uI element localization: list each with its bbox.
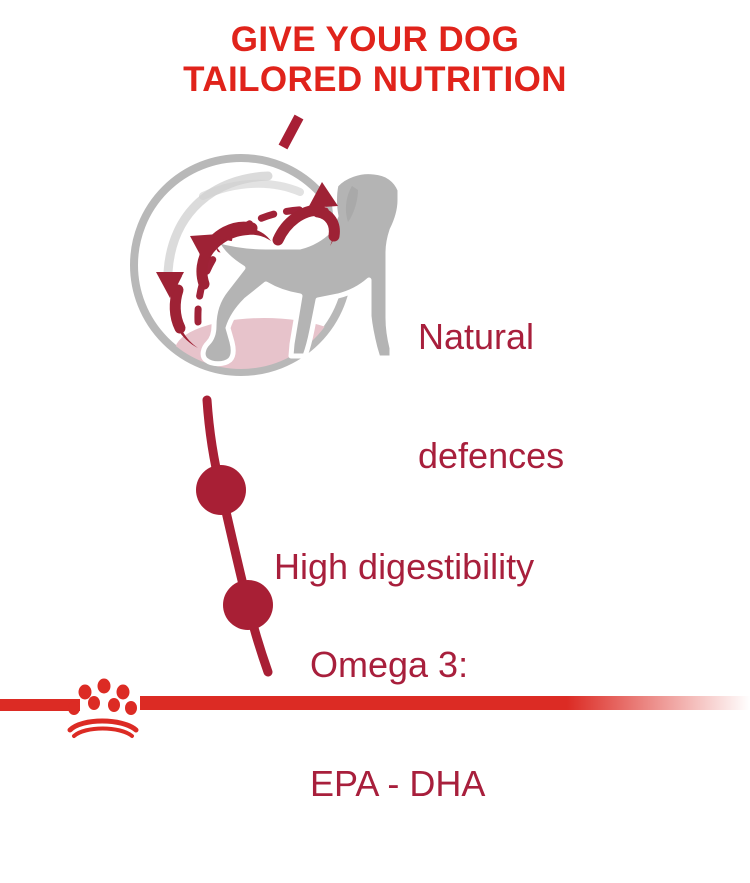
crown-arc-inner [74,729,132,737]
defence-arrow-3-head [308,182,338,208]
icon-ground-shadow [175,318,353,382]
defence-arrow-3 [278,182,338,246]
natural-defences-icon [134,158,400,382]
feature-omega-line-2: EPA - DHA [310,764,485,804]
dog-silhouette [203,172,400,364]
icon-dashed-shield-arc [198,210,362,322]
footer-left-bar [0,699,80,711]
page-title: GIVE YOUR DOG TAILORED NUTRITION [0,20,750,100]
icon-ring [134,158,348,372]
icon-inner-arc [168,176,268,272]
defence-arrow-2-head [190,234,219,262]
royal-canin-crown-logo [68,679,137,737]
connector-dot-digestibility [196,465,246,515]
defence-arrow-2 [190,227,271,284]
feature-natural-line-1: Natural [418,317,564,357]
dog-ear [346,186,358,222]
defence-arrow-1-head [162,276,182,296]
footer-right-bar [140,696,750,710]
royal-canin-footer [0,672,750,750]
icon-inner-arc-2 [203,184,300,196]
poster-canvas: GIVE YOUR DOG TAILORED NUTRITION [0,0,750,750]
connector-tick-top [283,117,299,147]
icon-defence-arrows [156,182,338,348]
connector-path [207,400,268,672]
connector-dot-omega [223,580,273,630]
defence-arrow-1 [156,272,198,348]
headline-line-1: GIVE YOUR DOG [0,20,750,60]
footer-bar [0,672,750,750]
headline-line-2: TAILORED NUTRITION [0,60,750,100]
